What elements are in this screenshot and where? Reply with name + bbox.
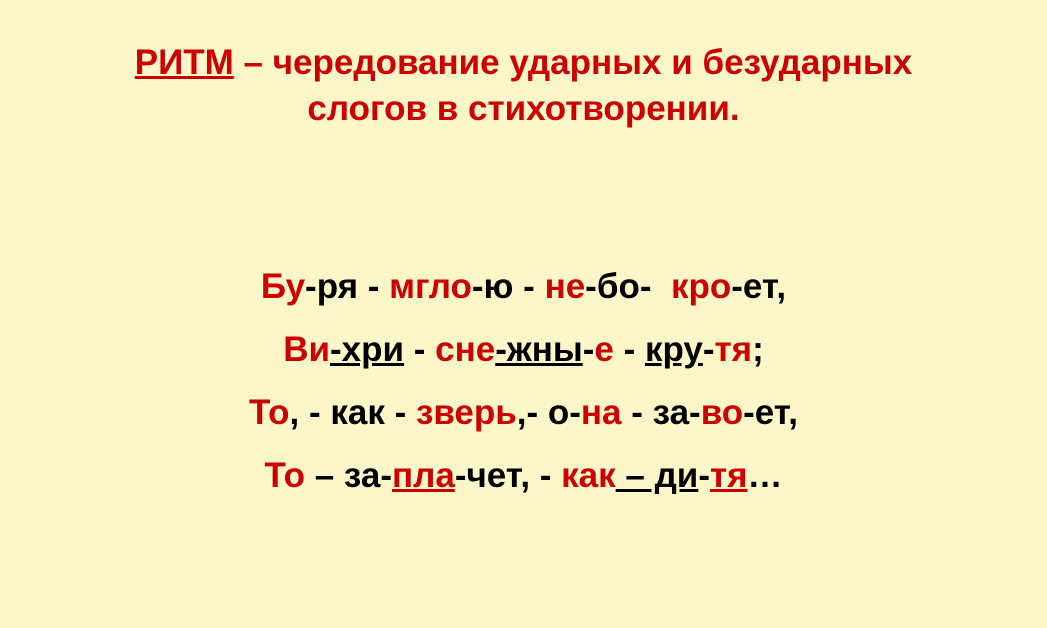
poem-segment: тя — [710, 456, 748, 495]
poem-body: Бу-ря - мгло-ю - не-бо- кро-ет,Ви-хри - … — [40, 255, 1007, 507]
poem-segment: – ди — [616, 456, 699, 495]
poem-segment: на — [581, 393, 622, 432]
poem-segment: То — [264, 456, 305, 495]
poem-segment: е — [594, 330, 613, 369]
poem-segment: как — [561, 456, 616, 495]
poem-segment: -хри — [330, 330, 404, 369]
poem-segment: не — [545, 267, 586, 306]
poem-segment: -жны — [495, 330, 583, 369]
poem-segment: … — [748, 456, 783, 495]
poem-segment: - — [703, 330, 715, 369]
poem-segment: -ет, — [731, 267, 786, 306]
slide-title: РИТМ – чередование ударных и безударных … — [60, 40, 987, 132]
slide-canvas: РИТМ – чередование ударных и безударных … — [0, 0, 1047, 628]
title-definition: – чередование ударных и безударных — [234, 43, 912, 82]
poem-segment: кро — [671, 267, 731, 306]
poem-segment: -ю - — [472, 267, 545, 306]
poem-segment: мгло — [389, 267, 472, 306]
poem-segment: То — [249, 393, 290, 432]
poem-segment: , - как - — [290, 393, 416, 432]
poem-segment: пла — [392, 456, 455, 495]
poem-segment: тя — [715, 330, 753, 369]
title-line-1: РИТМ – чередование ударных и безударных — [60, 40, 987, 86]
line-3: То, - как - зверь,- о-на - за-во-ет, — [40, 381, 1007, 444]
line-2: Ви-хри - сне-жны-е - кру-тя; — [40, 318, 1007, 381]
poem-segment: во — [701, 393, 743, 432]
poem-segment: -ря - — [305, 267, 389, 306]
poem-segment: - — [614, 330, 645, 369]
title-term: РИТМ — [135, 43, 234, 82]
title-line-2: слогов в стихотворении. — [60, 86, 987, 132]
poem-segment: -ет, — [743, 393, 798, 432]
poem-segment: ; — [752, 330, 764, 369]
poem-segment: - за- — [622, 393, 701, 432]
poem-segment: -бо- — [585, 267, 671, 306]
line-4: То – за-пла-чет, - как – ди-тя… — [40, 444, 1007, 507]
poem-segment: ,- о- — [517, 393, 581, 432]
poem-segment: Ви — [283, 330, 330, 369]
poem-segment: кру — [645, 330, 703, 369]
line-1: Бу-ря - мгло-ю - не-бо- кро-ет, — [40, 255, 1007, 318]
poem-segment: сне — [435, 330, 495, 369]
poem-segment: -чет, - — [455, 456, 561, 495]
poem-segment: - — [698, 456, 710, 495]
poem-segment: зверь — [416, 393, 517, 432]
poem-segment: - — [583, 330, 595, 369]
poem-segment: Бу — [261, 267, 305, 306]
poem-segment: – за- — [305, 456, 392, 495]
poem-segment: - — [404, 330, 435, 369]
